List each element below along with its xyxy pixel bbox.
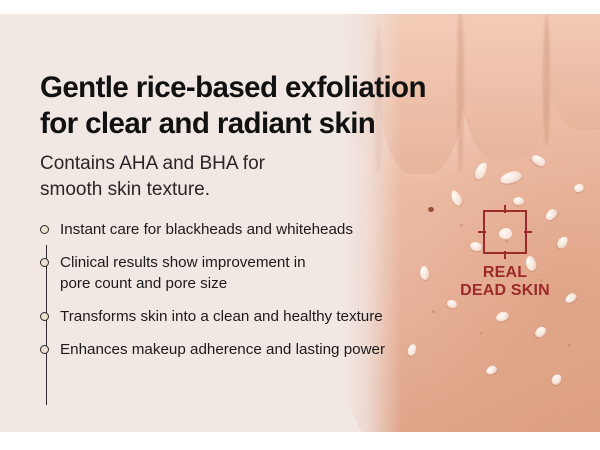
bullet-dot-icon (40, 258, 49, 267)
subheading: Contains AHA and BHA for smooth skin tex… (40, 151, 370, 202)
highlighted-dead-skin-flake (499, 228, 512, 239)
subheading-line-1: Contains AHA and BHA for (40, 151, 370, 177)
feature-text: Instant care for blackheads and whitehea… (60, 220, 480, 241)
headline-line-2: for clear and radiant skin (40, 106, 470, 142)
callout-label: REAL DEAD SKIN (440, 264, 570, 300)
feature-text: Transforms skin into a clean and healthy… (60, 307, 480, 328)
bullet-dot-icon (40, 345, 49, 354)
headline-line-1: Gentle rice-based exfoliation (40, 70, 470, 106)
marker-tick-right (524, 231, 532, 233)
list-item: Transforms skin into a clean and healthy… (40, 307, 480, 328)
page-title: Gentle rice-based exfoliation for clear … (40, 70, 470, 142)
feature-list: Instant care for blackheads and whitehea… (40, 220, 480, 373)
finger-crease-3 (543, 14, 550, 146)
list-item: Instant care for blackheads and whitehea… (40, 220, 480, 241)
crop-square-marker-icon (483, 210, 527, 254)
marker-tick-bottom (504, 251, 506, 259)
product-feature-banner: Gentle rice-based exfoliation for clear … (0, 0, 600, 450)
bullet-dot-icon (40, 225, 49, 234)
list-item: Enhances makeup adherence and lasting po… (40, 340, 480, 361)
subheading-line-2: smooth skin texture. (40, 177, 370, 203)
list-item: Clinical results show improvement in por… (40, 253, 480, 295)
finger-3 (460, 14, 552, 160)
marker-tick-top (504, 205, 506, 213)
skin-pore (480, 332, 483, 335)
callout-label-line-2: DEAD SKIN (440, 282, 570, 300)
dead-skin-callout: REAL DEAD SKIN (440, 210, 570, 300)
bullet-dot-icon (40, 312, 49, 321)
marker-tick-left (478, 231, 486, 233)
feature-text: Clinical results show improvement in por… (60, 253, 480, 295)
content-band: Gentle rice-based exfoliation for clear … (0, 14, 600, 432)
skin-pore (568, 344, 571, 347)
feature-text: Enhances makeup adherence and lasting po… (60, 340, 480, 361)
callout-label-line-1: REAL (440, 264, 570, 282)
